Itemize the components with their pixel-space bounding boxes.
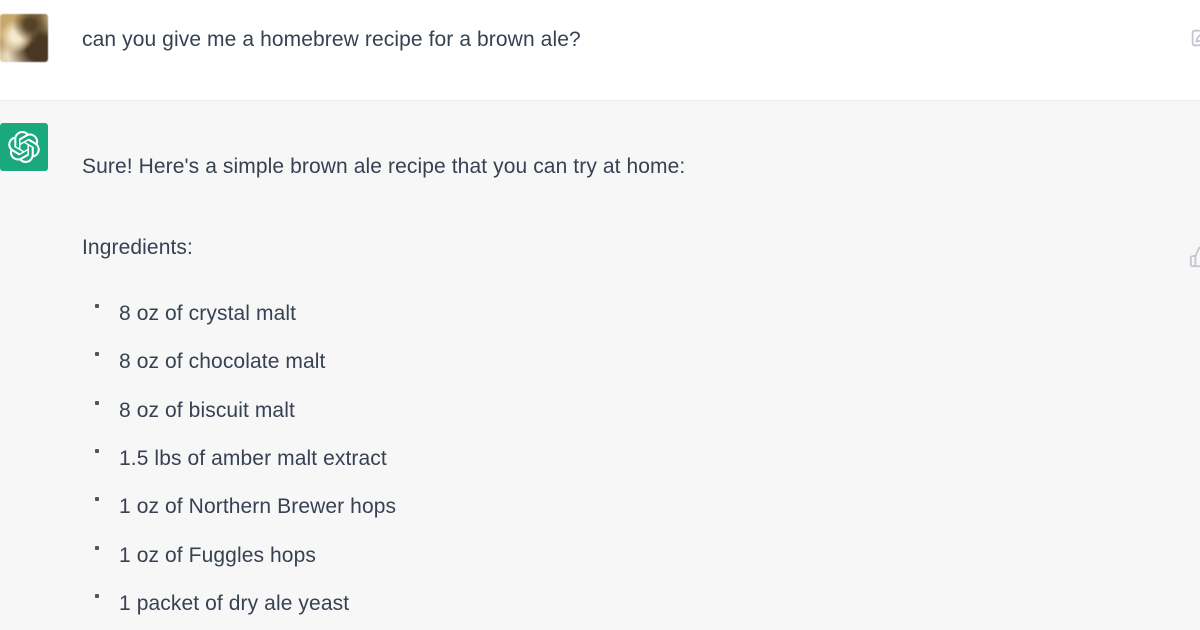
list-item: 1 oz of Northern Brewer hops (82, 493, 1160, 520)
list-item: 1.5 lbs of amber malt extract (82, 445, 1160, 472)
edit-icon (1189, 27, 1200, 49)
list-item: 8 oz of biscuit malt (82, 397, 1160, 424)
thumbs-up-button[interactable] (1178, 235, 1200, 279)
message-row-assistant: Sure! Here's a simple brown ale recipe t… (0, 101, 1200, 630)
avatar-column-user (0, 0, 42, 62)
edit-message-button[interactable] (1178, 16, 1200, 60)
list-item: 8 oz of chocolate malt (82, 348, 1160, 375)
openai-logo-avatar (0, 123, 48, 171)
message-inner-user: can you give me a homebrew recipe for a … (0, 0, 1200, 62)
avatar-column-assistant (0, 101, 42, 171)
ingredients-heading: Ingredients: (82, 234, 1160, 262)
message-row-user: can you give me a homebrew recipe for a … (0, 0, 1200, 101)
assistant-lead-text: Sure! Here's a simple brown ale recipe t… (82, 153, 1160, 181)
thumbs-up-icon (1189, 246, 1200, 268)
list-item: 1 packet of dry ale yeast (82, 590, 1160, 617)
chat-conversation: can you give me a homebrew recipe for a … (0, 0, 1200, 630)
user-message-text: can you give me a homebrew recipe for a … (82, 26, 1160, 54)
assistant-prose: Sure! Here's a simple brown ale recipe t… (82, 153, 1160, 617)
message-body-user: can you give me a homebrew recipe for a … (42, 0, 1200, 54)
message-body-assistant: Sure! Here's a simple brown ale recipe t… (42, 101, 1200, 630)
user-photo-avatar (0, 14, 48, 62)
openai-logo-icon (8, 131, 40, 163)
list-item: 8 oz of crystal malt (82, 300, 1160, 327)
ingredients-list: 8 oz of crystal malt 8 oz of chocolate m… (82, 300, 1160, 617)
list-item: 1 oz of Fuggles hops (82, 542, 1160, 569)
message-inner-assistant: Sure! Here's a simple brown ale recipe t… (0, 101, 1200, 630)
user-prose: can you give me a homebrew recipe for a … (82, 26, 1160, 54)
